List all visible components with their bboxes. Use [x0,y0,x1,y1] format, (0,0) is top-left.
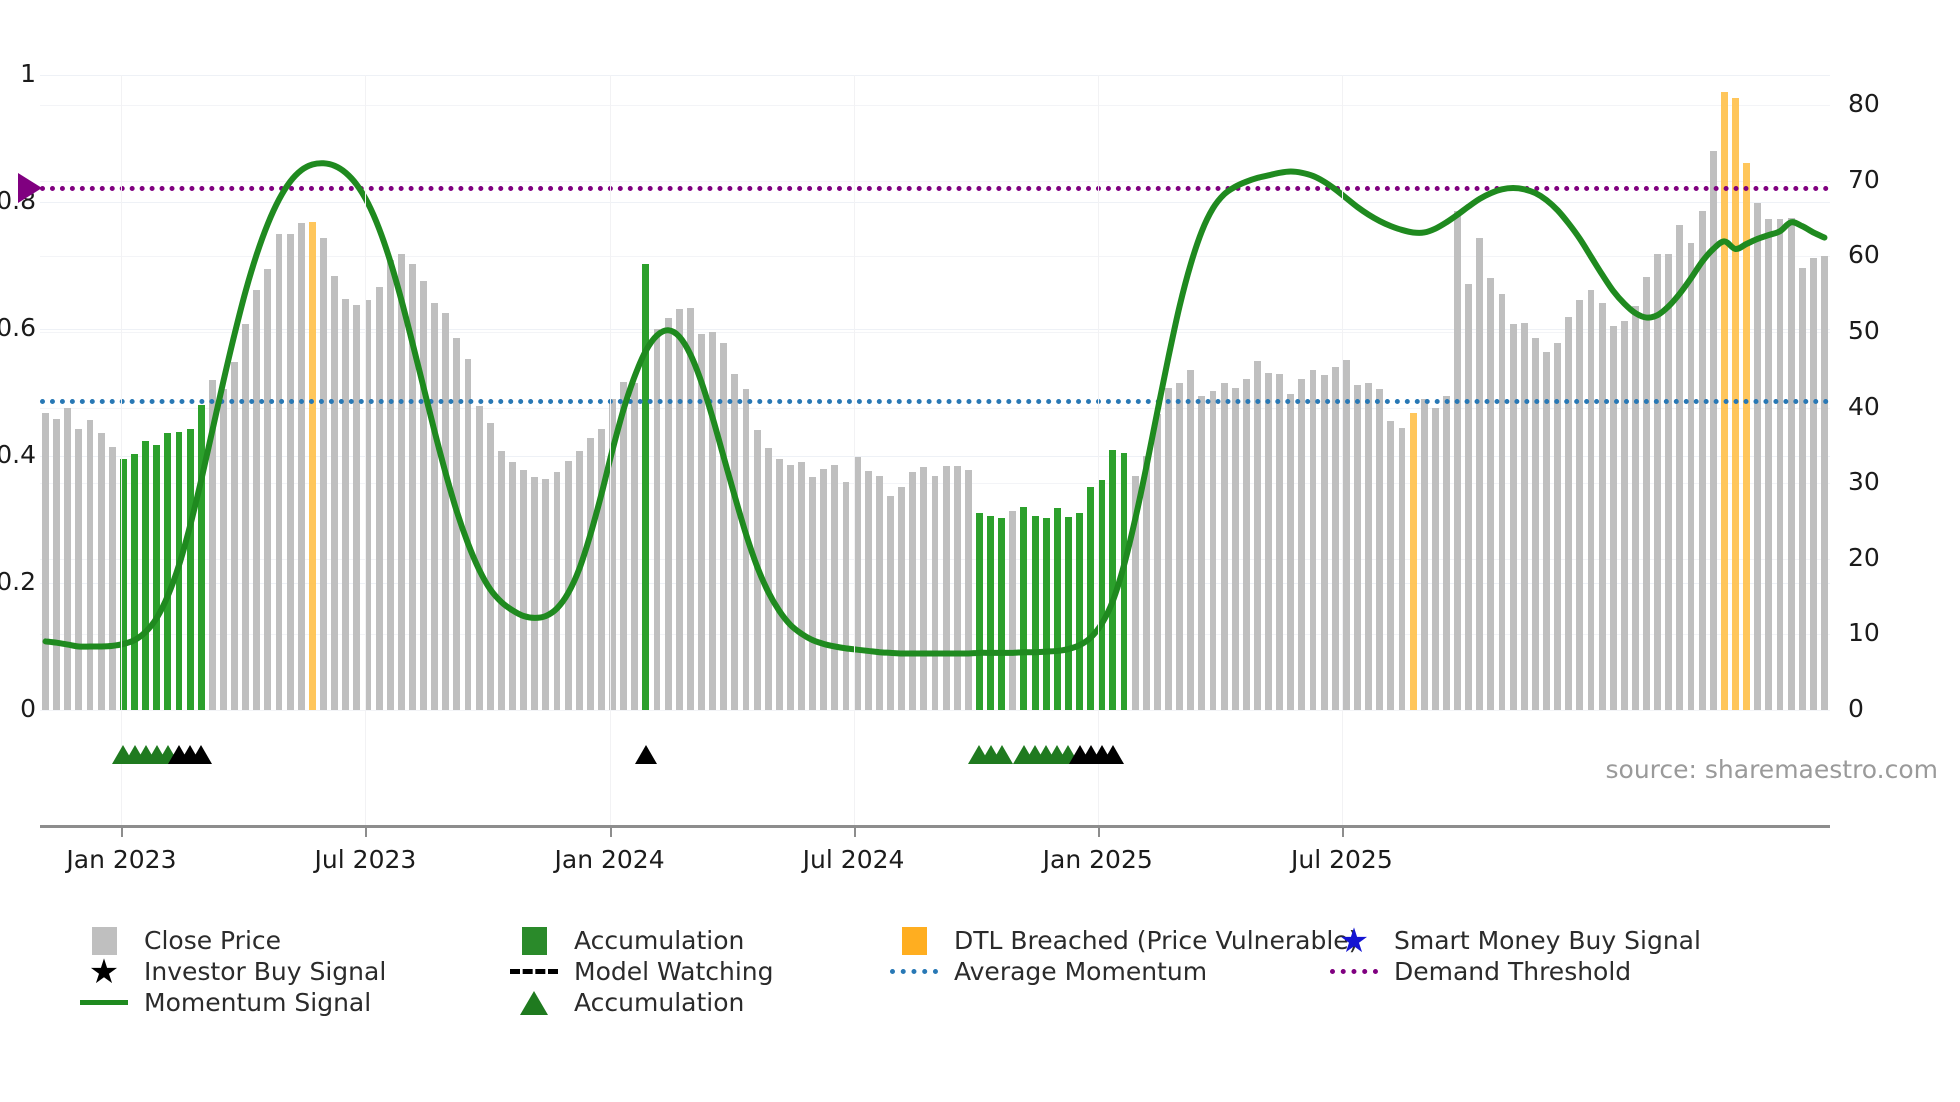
x-tick-mark [365,825,367,837]
momentum-signal-line [40,75,1830,710]
x-tick-label: Jul 2023 [315,845,417,874]
x-tick-mark [854,825,856,837]
legend-dtl-breached[interactable]: DTL Breached (Price Vulnerable) [890,925,1330,956]
legend-swatch [890,958,938,986]
x-tick-mark [1342,825,1344,837]
left-axis-tick-label: 0.4 [0,440,36,469]
x-tick-label: Jan 2024 [555,845,665,874]
x-tick-gridline [610,75,611,825]
plot-area [40,75,1830,710]
left-axis-tick-label: 0.6 [0,313,36,342]
legend-label: Average Momentum [954,957,1207,986]
left-axis-tick-label: 0 [20,694,36,723]
legend-swatch [510,989,558,1017]
x-tick-label: Jan 2025 [1043,845,1153,874]
x-tick-gridline [854,75,855,825]
legend-swatch [510,927,558,955]
legend-accumulation-bar[interactable]: Accumulation [510,925,890,956]
legend-triangle-icon [520,991,548,1015]
legend-swatch [80,989,128,1017]
momentum-signal-path [46,163,1825,653]
legend-dotted-line-icon [890,969,938,974]
legend-dashed-line-icon [510,969,558,974]
investor-buy-signal-marker [190,745,212,764]
legend-label: Model Watching [574,957,774,986]
legend-momentum-signal[interactable]: Momentum Signal [80,987,510,1018]
legend-swatch: ★ [80,958,128,986]
legend-label: Accumulation [574,926,744,955]
legend-label: Smart Money Buy Signal [1394,926,1701,955]
x-tick-mark [610,825,612,837]
legend-label: Demand Threshold [1394,957,1631,986]
legend: Close PriceAccumulationDTL Breached (Pri… [80,925,1930,1018]
right-axis-tick-label: 40 [1848,392,1880,421]
x-tick-label: Jul 2024 [803,845,905,874]
investor-buy-signal-marker [635,745,657,764]
x-tick-mark [1098,825,1100,837]
x-axis-line [40,825,1830,828]
legend-investor-buy-signal[interactable]: ★Investor Buy Signal [80,956,510,987]
legend-line-icon [80,1000,128,1005]
x-tick-gridline [1098,75,1099,825]
right-axis-tick-label: 10 [1848,618,1880,647]
right-axis-tick-label: 60 [1848,240,1880,269]
chart-root: 00.20.40.60.81 01020304050607080 Jan 202… [0,0,1960,1102]
right-axis-tick-label: 0 [1848,694,1864,723]
x-tick-gridline [365,75,366,825]
right-axis-tick-label: 50 [1848,316,1880,345]
x-tick-gridline [1342,75,1343,825]
x-tick-gridline [121,75,122,825]
x-tick-mark [121,825,123,837]
left-axis-tick-label: 0.2 [0,567,36,596]
legend-dotted-line-icon [1330,969,1378,974]
legend-swatch [1330,958,1378,986]
legend-model-watching[interactable]: Model Watching [510,956,890,987]
legend-label: DTL Breached (Price Vulnerable) [954,926,1358,955]
left-axis-tick-label: 1 [20,59,36,88]
legend-star-icon: ★ [1339,924,1369,958]
legend-square-icon [522,927,547,955]
legend-square-icon [902,927,927,955]
legend-demand-threshold[interactable]: Demand Threshold [1330,956,1750,987]
legend-average-momentum[interactable]: Average Momentum [890,956,1330,987]
legend-accumulation-marker[interactable]: Accumulation [510,987,890,1018]
x-tick-label: Jul 2025 [1291,845,1393,874]
legend-swatch [890,927,938,955]
accumulation-marker [991,745,1013,764]
legend-swatch [80,927,128,955]
legend-star-icon: ★ [89,955,119,989]
legend-label: Momentum Signal [144,988,371,1017]
legend-label: Investor Buy Signal [144,957,386,986]
gridline-right [40,710,1830,711]
right-axis-tick-label: 80 [1848,89,1880,118]
legend-smart-money-buy-signal[interactable]: ★Smart Money Buy Signal [1330,925,1750,956]
right-axis-tick-label: 30 [1848,467,1880,496]
legend-close-price[interactable]: Close Price [80,925,510,956]
legend-swatch [510,958,558,986]
legend-label: Accumulation [574,988,744,1017]
legend-swatch: ★ [1330,927,1378,955]
investor-buy-signal-marker [1102,745,1124,764]
right-axis-tick-label: 70 [1848,165,1880,194]
x-tick-label: Jan 2023 [66,845,176,874]
demand-threshold-start-marker [18,173,42,203]
legend-square-icon [92,927,117,955]
right-axis-tick-label: 20 [1848,543,1880,572]
legend-label: Close Price [144,926,281,955]
source-note: source: sharemaestro.com [1606,755,1939,784]
